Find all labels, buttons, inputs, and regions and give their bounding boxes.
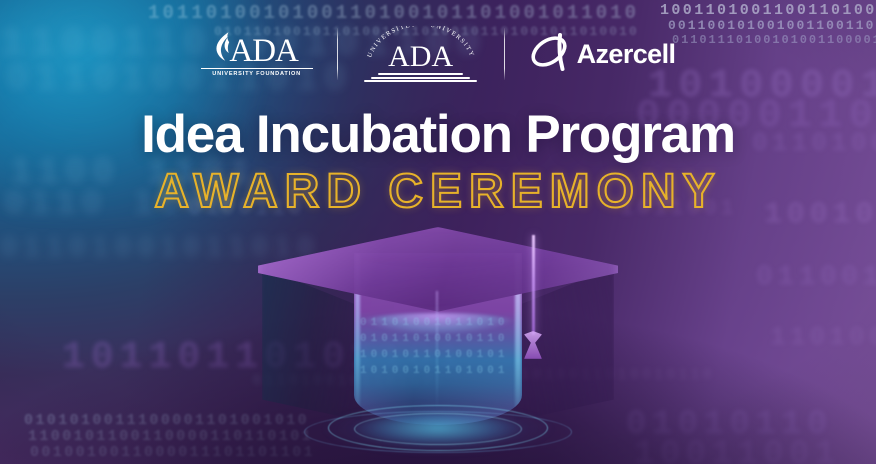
logo-ada-university-foundation: ADA UNIVERSITY FOUNDATION (201, 31, 313, 77)
sponsor-logo-bar: ADA UNIVERSITY FOUNDATION UNIVERSITET ★ … (0, 26, 876, 82)
ada-flame-icon (215, 31, 230, 67)
logo-ada-university: UNIVERSITET ★ UNIVERSITY ADA (362, 26, 480, 82)
event-banner: 1011010010100110100101101001011010010110… (0, 0, 876, 464)
ada-seal-arc-text: UNIVERSITET ★ UNIVERSITY (362, 26, 480, 72)
page-subtitle: AWARD CEREMONY (0, 167, 876, 217)
ada-foundation-wordmark: ADA (229, 36, 298, 67)
tassel-cord (532, 235, 535, 335)
svg-text:UNIVERSITET ★ UNIVERSITY: UNIVERSITET ★ UNIVERSITY (366, 26, 475, 59)
headline-block: Idea Incubation Program AWARD CEREMONY (0, 108, 876, 217)
ada-seal-steps-icon (362, 73, 480, 82)
hologram-ring-inner (354, 413, 522, 445)
azercell-alpha-icon (529, 32, 575, 77)
ada-foundation-subtitle: UNIVERSITY FOUNDATION (201, 68, 313, 77)
azercell-wordmark: Azercell (577, 39, 676, 70)
logo-divider-2 (504, 28, 505, 80)
page-title: Idea Incubation Program (0, 108, 876, 161)
cap-center-crease (436, 291, 438, 411)
graduation-cap-illustration: 0110100101101001011010010110100101101001… (0, 205, 876, 464)
logo-azercell: Azercell (529, 32, 676, 77)
logo-divider-1 (337, 28, 338, 80)
